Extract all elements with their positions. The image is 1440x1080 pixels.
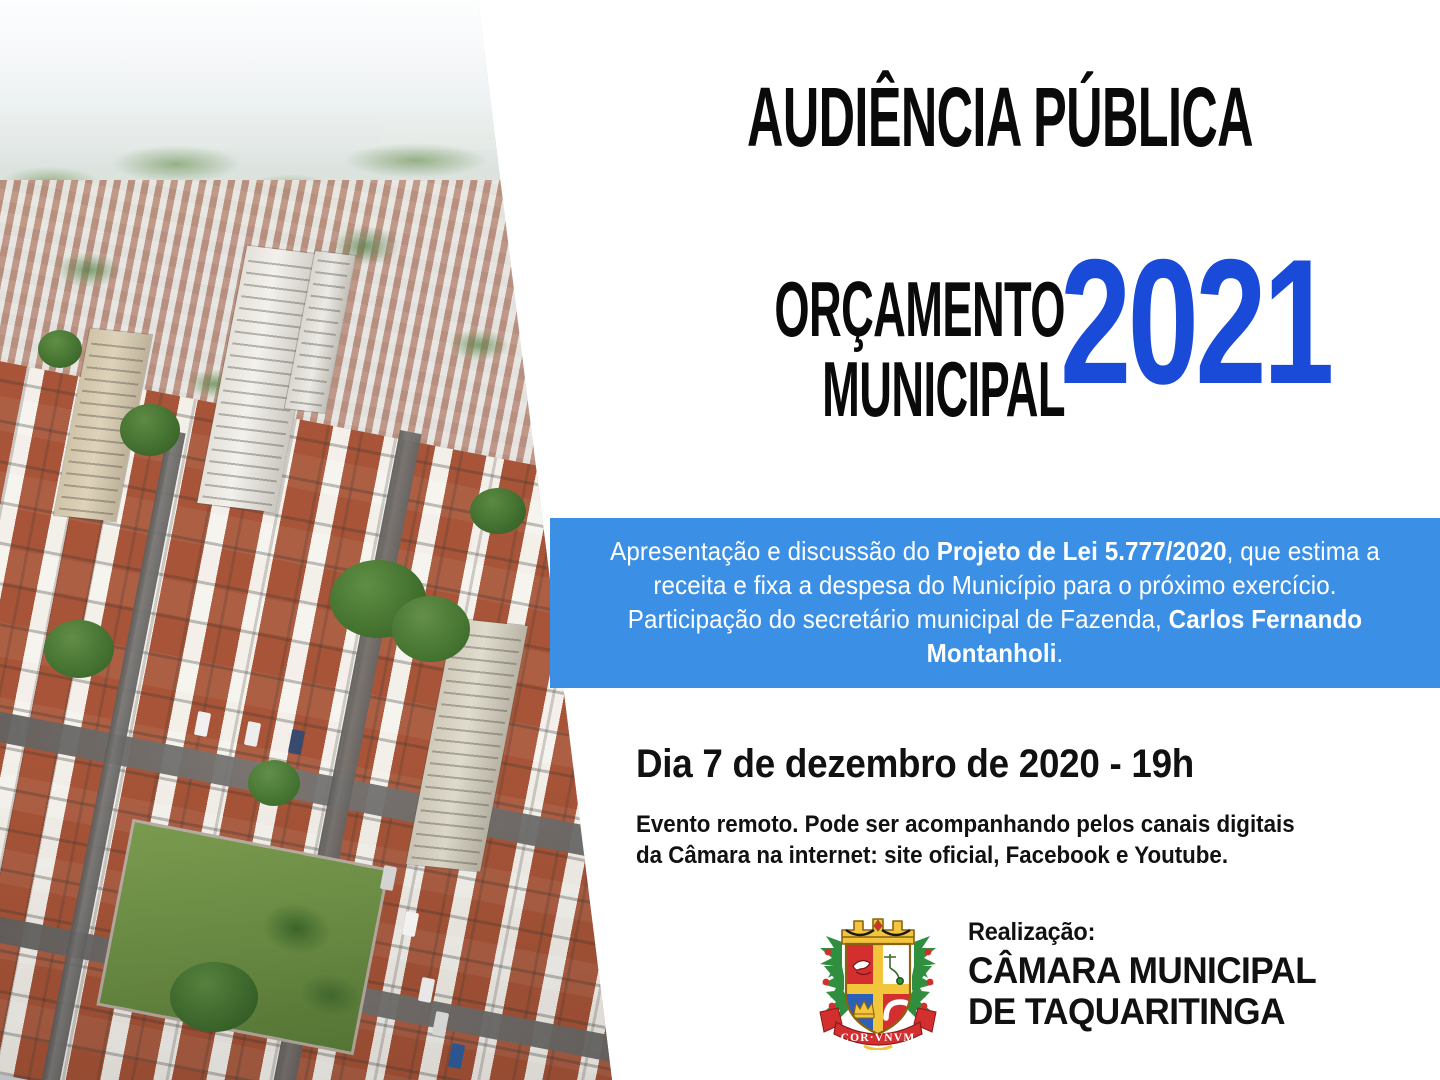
description-part-1: Apresentação e discussão do	[610, 536, 937, 566]
description-bill-number: Projeto de Lei 5.777/2020	[937, 536, 1227, 566]
event-date: Dia 7 de dezembro de 2020 - 19h	[636, 742, 1194, 787]
organisation-name-line-2: DE TAQUARITINGA	[968, 991, 1316, 1032]
headline-row: ORÇAMENTO MUNICIPAL 2021	[560, 256, 1440, 429]
realizacao-label: Realização:	[968, 918, 1313, 947]
photo-content	[0, 0, 630, 1080]
poster-root: AUDIÊNCIA PÚBLICA ORÇAMENTO MUNICIPAL 20…	[0, 0, 1440, 1080]
organisation-text: Realização: CÂMARA MUNICIPAL DE TAQUARIT…	[968, 896, 1335, 1033]
headline-line-2: MUNICIPAL	[774, 350, 1065, 430]
brasao-taquaritinga-icon: COR·VNVM	[812, 896, 944, 1050]
headline-subject: ORÇAMENTO MUNICIPAL	[774, 256, 1065, 429]
tree-canopy	[470, 488, 526, 534]
tree-canopy	[392, 596, 470, 662]
tree-canopy	[248, 760, 300, 806]
description-text: Apresentação e discussão do Projeto de L…	[581, 535, 1409, 670]
event-note: Evento remoto. Pode ser acompanhando pel…	[636, 810, 1371, 871]
crest-motto-text: COR·VNVM	[841, 1032, 916, 1044]
tree-canopy	[38, 330, 82, 368]
tree-canopy	[120, 404, 180, 456]
page-title: AUDIÊNCIA PÚBLICA	[736, 78, 1264, 158]
event-note-line-2: da Câmara na internet: site oficial, Fac…	[636, 841, 1371, 872]
headline-year: 2021	[1060, 240, 1331, 404]
organisation-name: CÂMARA MUNICIPAL DE TAQUARITINGA	[968, 950, 1316, 1033]
event-note-line-1: Evento remoto. Pode ser acompanhando pel…	[636, 810, 1371, 841]
tree-canopy	[44, 620, 114, 678]
aerial-city-photo	[0, 0, 630, 1080]
description-banner: Apresentação e discussão do Projeto de L…	[550, 518, 1440, 688]
organisation-name-line-1: CÂMARA MUNICIPAL	[968, 950, 1316, 991]
footer-block: COR·VNVM Realização: CÂMARA MUNICIPAL DE…	[812, 896, 1335, 1050]
description-part-3: .	[1057, 638, 1064, 668]
tree-canopy	[170, 962, 258, 1032]
headline-line-1: ORÇAMENTO	[774, 270, 1065, 350]
